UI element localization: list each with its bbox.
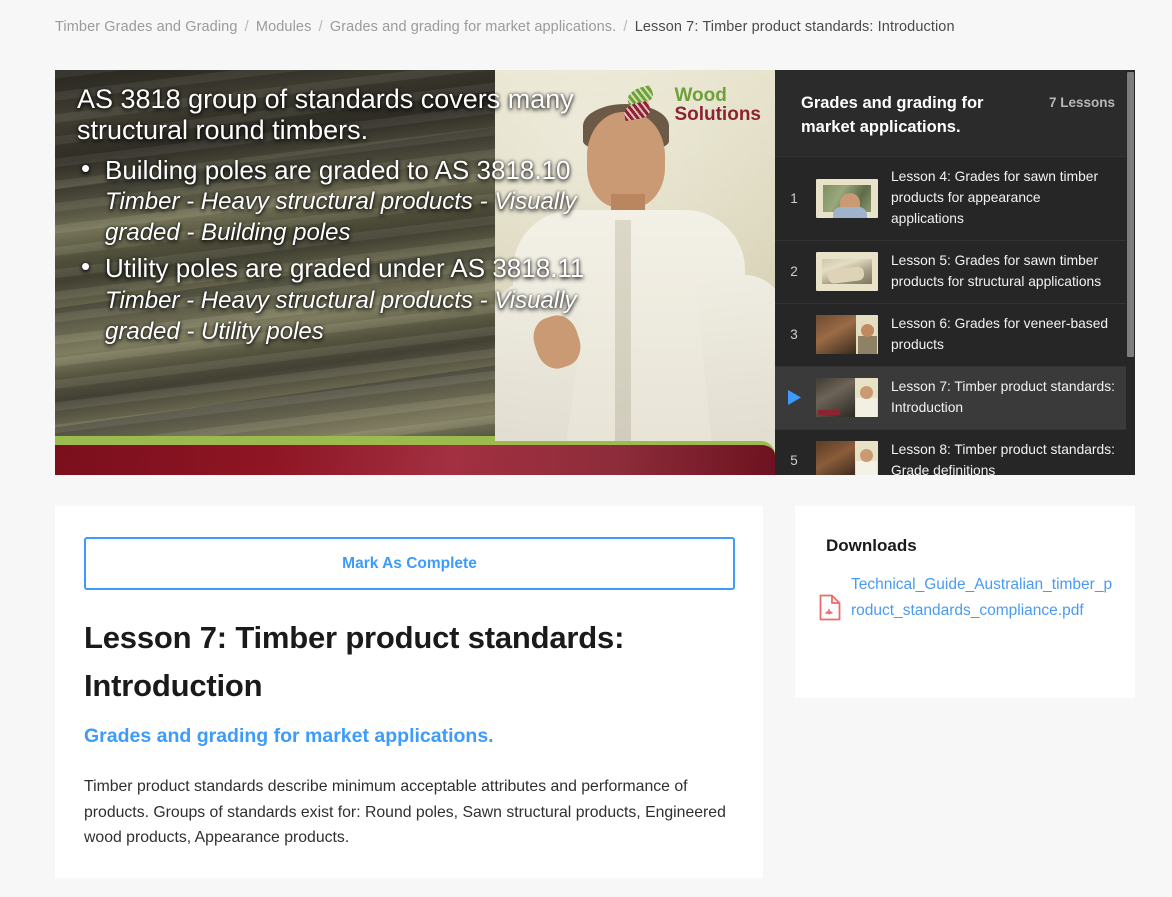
playlist-item-thumbnail	[816, 378, 878, 417]
slide-bullet-lead: Utility poles are graded under AS 3818.1…	[105, 253, 584, 283]
slide-bullet-list: Building poles are graded to AS 3818.10 …	[77, 155, 585, 346]
pdf-file-icon	[819, 572, 843, 626]
slide-bullet-item: Utility poles are graded under AS 3818.1…	[77, 253, 585, 346]
playlist-item-index: 2	[785, 264, 803, 279]
playlist-item-index: 5	[785, 453, 803, 468]
download-list-item[interactable]: Technical_Guide_Australian_timber_produc…	[819, 572, 1117, 626]
playlist-scrollbar-thumb[interactable]	[1127, 72, 1134, 357]
lesson-content-card: Mark As Complete Lesson 7: Timber produc…	[55, 506, 763, 878]
breadcrumb-separator: /	[245, 19, 249, 35]
playlist-lesson-count: 7 Lessons	[1049, 92, 1115, 110]
playlist-scrollbar[interactable]	[1126, 70, 1135, 475]
download-file-link[interactable]: Technical_Guide_Australian_timber_produc…	[851, 572, 1117, 623]
playlist-item-lesson-5[interactable]: 2 Lesson 5: Grades for sawn timber produ…	[775, 240, 1135, 303]
breadcrumb-current-lesson: Lesson 7: Timber product standards: Intr…	[635, 19, 955, 35]
video-player-block: AS 3818 group of standards covers many s…	[55, 70, 1135, 475]
playlist-item-index: 3	[785, 327, 803, 342]
playlist-header: Grades and grading for market applicatio…	[775, 70, 1135, 156]
playlist-title: Grades and grading for market applicatio…	[801, 92, 1016, 140]
playlist-item-lesson-7-active[interactable]: Lesson 7: Timber product standards: Intr…	[775, 366, 1135, 429]
playlist-item-label: Lesson 6: Grades for veneer-based produc…	[891, 314, 1117, 356]
woodsolutions-fan-icon	[623, 84, 667, 128]
breadcrumb-separator: /	[319, 19, 323, 35]
downloads-card: Downloads Technical_Guide_Australian_tim…	[795, 506, 1135, 698]
downloads-heading: Downloads	[826, 536, 917, 556]
play-triangle-icon	[785, 390, 803, 405]
mark-as-complete-button[interactable]: Mark As Complete	[84, 537, 735, 590]
slide-bullet-italic: Timber - Heavy structural products - Vis…	[105, 188, 577, 246]
playlist-item-label: Lesson 4: Grades for sawn timber product…	[891, 167, 1117, 230]
playlist-item-lesson-8[interactable]: 5 Lesson 8: Timber product standards: Gr…	[775, 429, 1135, 475]
page-title: Lesson 7: Timber product standards: Intr…	[84, 614, 694, 709]
logo-text-solutions: Solutions	[674, 106, 761, 125]
breadcrumb-item-course[interactable]: Timber Grades and Grading	[55, 19, 238, 35]
slide-bottom-banner	[55, 441, 775, 475]
breadcrumb-separator: /	[623, 19, 627, 35]
playlist-item-lesson-6[interactable]: 3 Lesson 6: Grades for veneer-based prod…	[775, 303, 1135, 366]
playlist-item-label: Lesson 8: Timber product standards: Grad…	[891, 440, 1117, 475]
playlist-item-label: Lesson 7: Timber product standards: Intr…	[891, 377, 1117, 419]
playlist-item-thumbnail	[816, 252, 878, 291]
playlist-item-index: 1	[785, 191, 803, 206]
playlist-item-lesson-4[interactable]: 1 Lesson 4: Grades for sawn timber produ…	[775, 156, 1135, 240]
playlist-items: 1 Lesson 4: Grades for sawn timber produ…	[775, 156, 1135, 475]
slide-bullet-lead: Building poles are graded to AS 3818.10	[105, 155, 570, 185]
lesson-module-subtitle: Grades and grading for market applicatio…	[84, 723, 704, 750]
breadcrumb: Timber Grades and Grading / Modules / Gr…	[55, 19, 955, 35]
breadcrumb-item-modules[interactable]: Modules	[256, 19, 312, 35]
playlist-item-thumbnail	[816, 179, 878, 218]
playlist-item-thumbnail	[816, 315, 878, 354]
playlist-item-label: Lesson 5: Grades for sawn timber product…	[891, 251, 1117, 293]
slide-heading: AS 3818 group of standards covers many s…	[77, 84, 585, 147]
video-player[interactable]: AS 3818 group of standards covers many s…	[55, 70, 775, 475]
woodsolutions-logo: Wood Solutions	[623, 84, 761, 128]
playlist-item-thumbnail	[816, 441, 878, 475]
slide-bullet-italic: Timber - Heavy structural products - Vis…	[105, 287, 577, 345]
breadcrumb-item-module[interactable]: Grades and grading for market applicatio…	[330, 19, 616, 35]
lesson-description: Timber product standards describe minimu…	[84, 774, 729, 851]
lesson-playlist: Grades and grading for market applicatio…	[775, 70, 1135, 475]
slide-text-content: AS 3818 group of standards covers many s…	[77, 84, 585, 346]
slide-bullet-item: Building poles are graded to AS 3818.10 …	[77, 155, 585, 248]
